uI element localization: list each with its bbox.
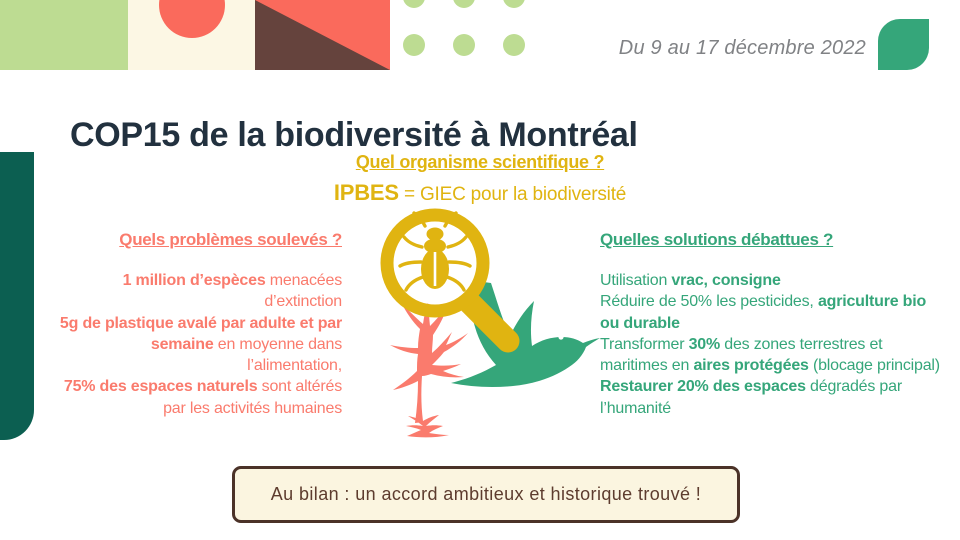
grid-dot bbox=[403, 0, 425, 8]
organism-definition-text: = GIEC pour la biodiversité bbox=[404, 184, 626, 205]
date-range-label: Du 9 au 17 décembre 2022 bbox=[566, 37, 866, 60]
organism-section: Quel organisme scientifique ? IPBES = GI… bbox=[280, 152, 680, 206]
grid-dot bbox=[403, 34, 425, 56]
problems-heading: Quels problèmes soulevés ? bbox=[55, 230, 342, 250]
solution-item-normal: Transformer bbox=[600, 336, 689, 353]
green-leaf-shape bbox=[878, 19, 929, 70]
deco-tile-teal-quarter-circle bbox=[0, 0, 128, 70]
solutions-column: Quelles solutions débattues ? Utilisatio… bbox=[600, 230, 945, 419]
deco-tile-cream-circle bbox=[128, 0, 255, 70]
grid-dot bbox=[503, 34, 525, 56]
solution-item-strong: aires protégées bbox=[693, 357, 808, 374]
solution-item: Transformer 30% des zones terrestres et … bbox=[600, 334, 945, 377]
grid-dot bbox=[453, 34, 475, 56]
page-title: COP15 de la biodiversité à Montréal bbox=[70, 116, 638, 155]
solution-item-normal: Utilisation bbox=[600, 272, 671, 289]
solution-item: Restaurer 20% des espaces dégradés par l… bbox=[600, 376, 945, 419]
organism-definition: IPBES = GIEC pour la biodiversité bbox=[280, 180, 680, 206]
light-green-quarter-circle-shape bbox=[0, 0, 128, 70]
problem-item: 5g de plastique avalé par adulte et par … bbox=[55, 313, 342, 377]
problem-item-strong: 1 million d’espèces bbox=[123, 272, 266, 289]
problem-item: 1 million d’espèces menacées d’extinctio… bbox=[55, 270, 342, 313]
problem-item-normal: menacées d’extinction bbox=[264, 272, 342, 310]
conclusion-box: Au bilan : un accord ambitieux et histor… bbox=[232, 466, 740, 523]
magnifier-beetle-icon bbox=[387, 213, 508, 341]
solutions-heading: Quelles solutions débattues ? bbox=[600, 230, 945, 250]
grid-dot bbox=[453, 0, 475, 8]
solution-item-strong: vrac, consigne bbox=[671, 272, 780, 289]
deco-tile-brown-triangle bbox=[255, 0, 390, 70]
solution-item-normal: Réduire de 50% les pesticides, bbox=[600, 293, 818, 310]
problem-item: 75% des espaces naturels sont altérés pa… bbox=[55, 376, 342, 419]
coral-triangle-shape bbox=[255, 0, 390, 70]
poster-canvas: Du 9 au 17 décembre 2022 COP15 de la bio… bbox=[0, 0, 960, 540]
bare-tree-icon bbox=[390, 302, 468, 437]
problem-item-normal: en moyenne dans l’alimentation, bbox=[214, 336, 342, 374]
solutions-body: Utilisation vrac, consigne Réduire de 50… bbox=[600, 270, 945, 419]
organism-heading: Quel organisme scientifique ? bbox=[280, 152, 680, 173]
conclusion-text: Au bilan : un accord ambitieux et histor… bbox=[271, 484, 701, 505]
biodiversity-illustration bbox=[352, 207, 602, 447]
solution-item: Réduire de 50% les pesticides, agricultu… bbox=[600, 291, 945, 334]
green-dot-grid bbox=[403, 0, 533, 70]
solution-item-strong: Restaurer 20% des espaces bbox=[600, 378, 806, 395]
grid-dot bbox=[503, 0, 525, 8]
coral-circle-shape bbox=[159, 0, 225, 38]
problems-column: Quels problèmes soulevés ? 1 million d’e… bbox=[55, 230, 342, 419]
solution-item-strong: 30% bbox=[689, 336, 720, 353]
problem-item-strong: 75% des espaces naturels bbox=[64, 378, 258, 395]
solution-item: Utilisation vrac, consigne bbox=[600, 270, 945, 291]
teal-side-bar bbox=[0, 152, 34, 440]
solution-item-tail: (blocage principal) bbox=[809, 357, 940, 374]
problems-body: 1 million d’espèces menacées d’extinctio… bbox=[55, 270, 342, 419]
organism-acronym: IPBES bbox=[334, 180, 399, 205]
